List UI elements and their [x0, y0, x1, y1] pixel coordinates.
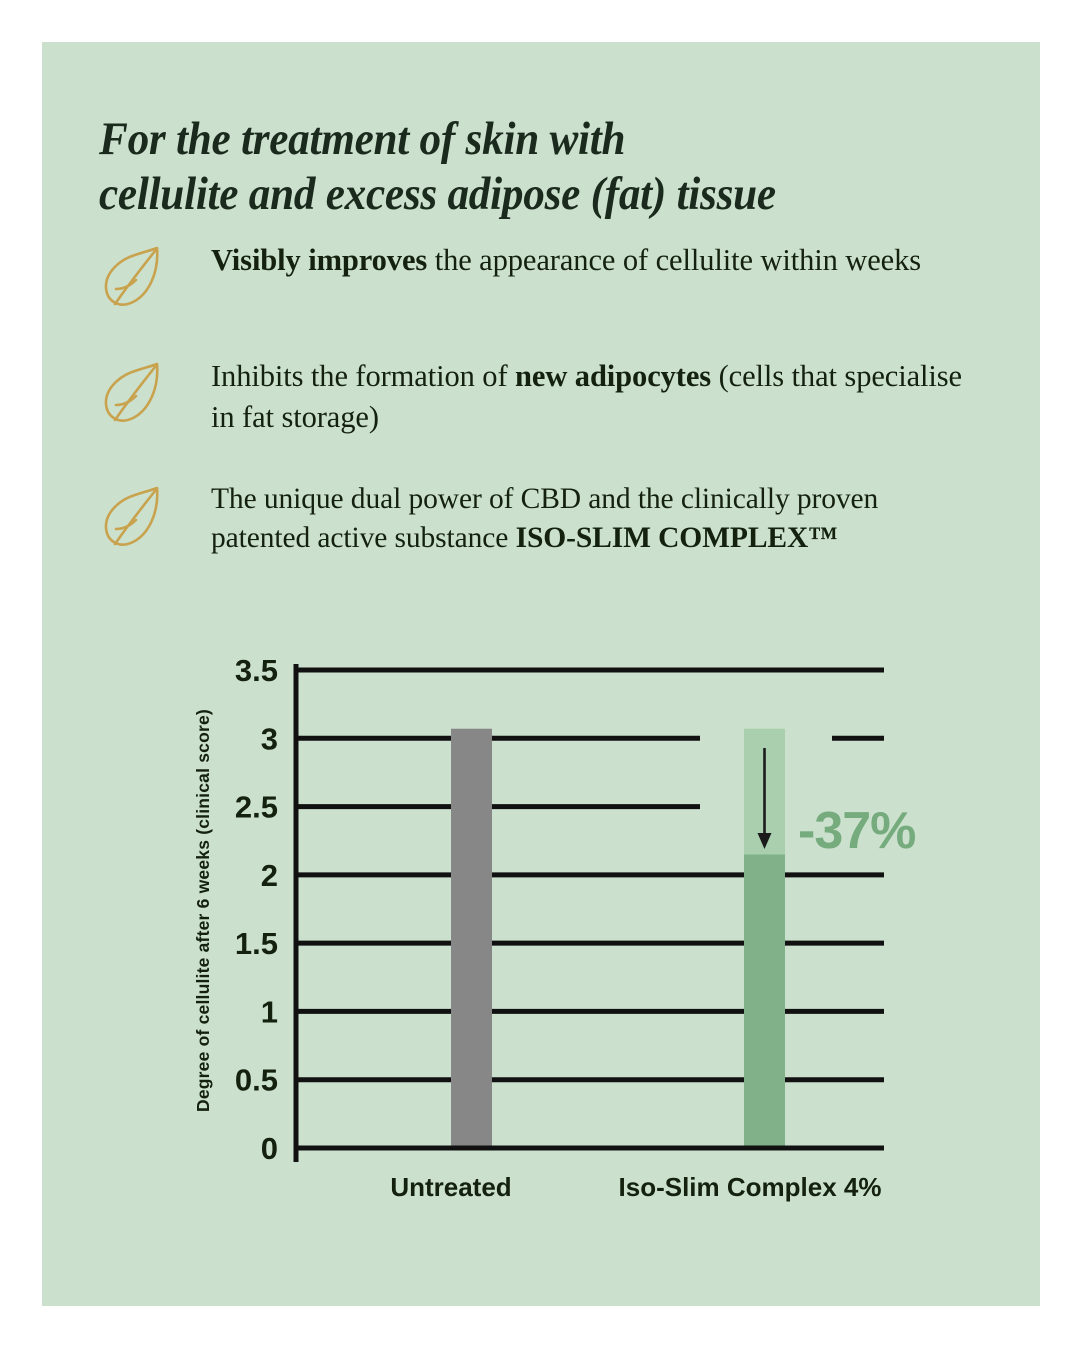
poster-root: For the treatment of skin with cellulite… [0, 0, 1080, 1350]
list-item-rest: the appearance of cellulite within weeks [427, 243, 921, 277]
list-item-emphasis: Visibly improves [211, 243, 427, 277]
leaf-icon [99, 482, 171, 554]
page-title-line2: cellulite and excess adipose (fat) tissu… [99, 167, 863, 222]
list-item-lead: Inhibits the formation of [211, 359, 515, 393]
page-title-line1: For the treatment of skin with [99, 113, 625, 165]
list-item-text: Inhibits the formation of new adipocytes… [171, 356, 979, 438]
list-item: Inhibits the formation of new adipocytes… [99, 356, 979, 438]
list-item: The unique dual power of CBD and the cli… [99, 480, 979, 559]
list-item: Visibly improves the appearance of cellu… [99, 240, 979, 314]
green-panel [42, 42, 1040, 1306]
list-item-text: The unique dual power of CBD and the cli… [171, 480, 979, 559]
leaf-icon [99, 242, 171, 314]
leaf-icon [99, 358, 171, 430]
benefits-list: Visibly improves the appearance of cellu… [99, 240, 979, 601]
list-item-emphasis: new adipocytes [515, 359, 711, 393]
list-item-text: Visibly improves the appearance of cellu… [171, 240, 979, 281]
list-item-emphasis: ISO-SLIM COMPLEX™ [516, 522, 838, 554]
page-title: For the treatment of skin with cellulite… [99, 112, 863, 223]
